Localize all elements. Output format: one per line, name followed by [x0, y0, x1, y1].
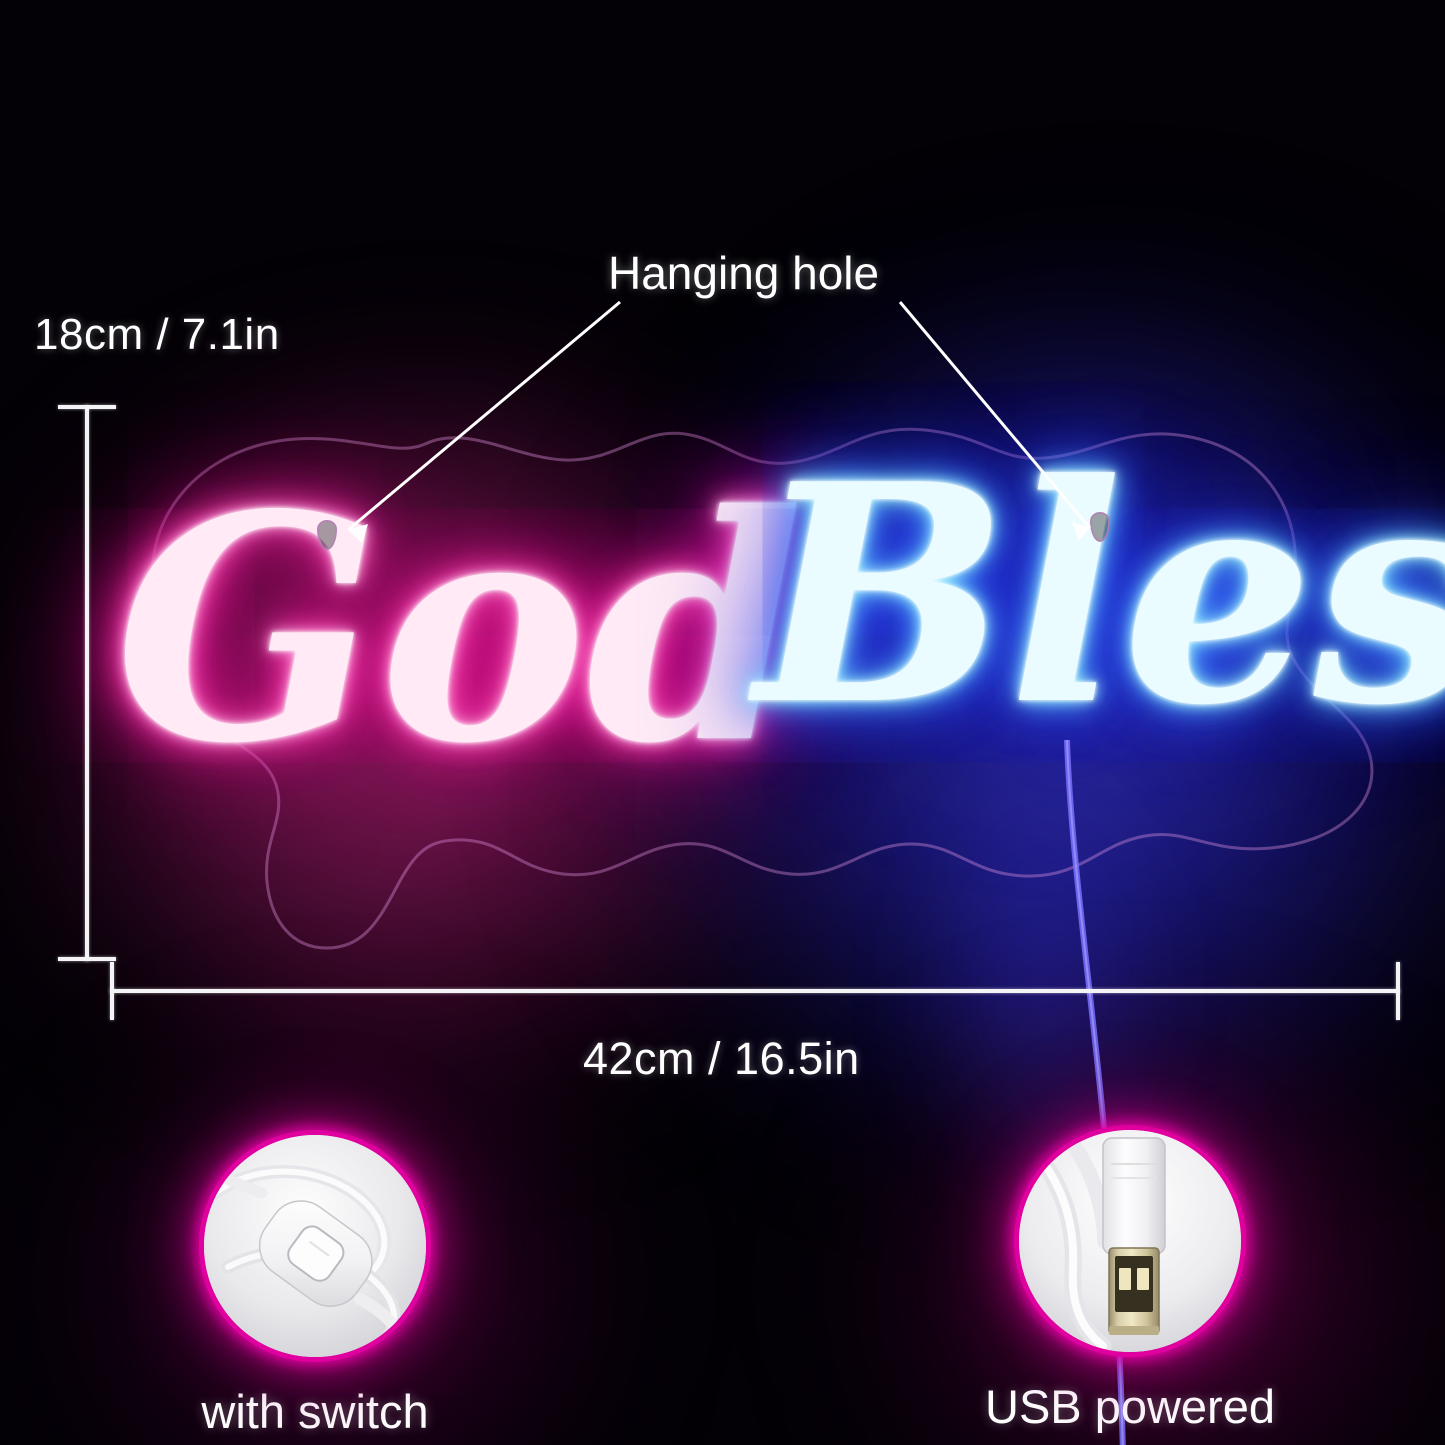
- width-dimension-cap-right: [1396, 962, 1400, 1020]
- neon-word-god: God: [115, 448, 803, 812]
- feature-label-with-switch: with switch: [115, 1384, 515, 1439]
- usb-photo-circle: [1014, 1125, 1246, 1357]
- neon-word-bless: Bless: [755, 418, 1445, 771]
- height-dimension-line: [85, 405, 89, 961]
- feature-with-switch: with switch: [115, 1130, 515, 1439]
- product-image-canvas: God Bless 18cm / 7.1in 42cm / 16.5in Han…: [0, 0, 1445, 1445]
- height-dimension-cap-bottom: [58, 957, 116, 961]
- height-dimension-label: 18cm / 7.1in: [34, 310, 280, 360]
- switch-photo-circle: [199, 1130, 431, 1362]
- neon-sign: God Bless: [95, 400, 1415, 970]
- height-dimension-cap-top: [58, 405, 116, 409]
- feature-usb-powered: USB powered: [930, 1125, 1330, 1434]
- hanging-hole-callout-label: Hanging hole: [608, 246, 879, 300]
- width-dimension-label: 42cm / 16.5in: [583, 1033, 860, 1085]
- width-dimension-cap-left: [110, 962, 114, 1020]
- feature-label-usb-powered: USB powered: [930, 1379, 1330, 1434]
- inline-switch-cable-icon: [204, 1135, 426, 1357]
- usb-a-connector-icon: [1019, 1130, 1241, 1352]
- width-dimension-line: [110, 989, 1400, 993]
